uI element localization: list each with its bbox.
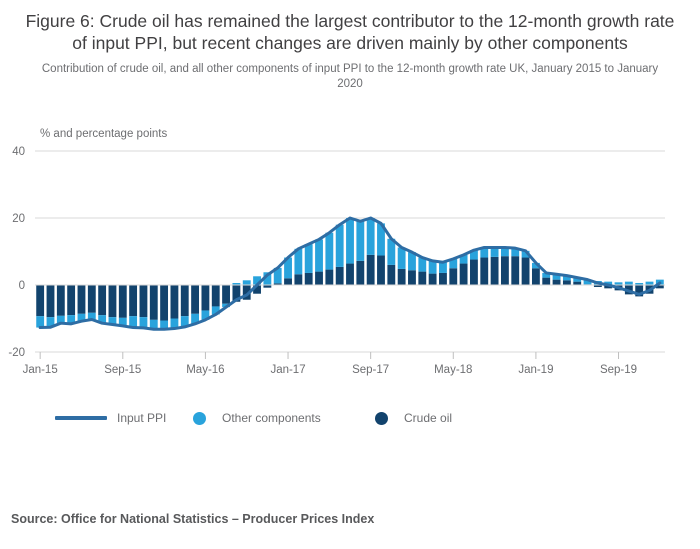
x-axis-tick-label: Jan-15: [23, 364, 58, 376]
stacked-bar-line-chart: -2002040Jan-15Sep-15May-16Jan-17Sep-17Ma…: [0, 128, 700, 388]
bar-group[interactable]: [460, 255, 468, 285]
bar-group[interactable]: [171, 285, 179, 329]
y-axis-tick-label: 20: [12, 213, 25, 225]
bar-group[interactable]: [325, 233, 333, 285]
bar-group[interactable]: [57, 285, 65, 323]
dot-marker-icon: [375, 412, 388, 425]
dot-marker-icon: [193, 412, 206, 425]
bar-group[interactable]: [336, 225, 344, 285]
x-axis-tick-label: Jan-19: [518, 364, 553, 376]
bar-group[interactable]: [88, 285, 96, 320]
bar-group[interactable]: [470, 250, 478, 285]
legend-item-crude-oil[interactable]: Crude oil: [375, 405, 452, 431]
bar-group[interactable]: [315, 239, 323, 285]
x-axis-tick-label: May-16: [186, 364, 224, 376]
legend-label-input-ppi: Input PPI: [117, 411, 166, 425]
bar-group[interactable]: [98, 285, 106, 323]
bar-group[interactable]: [439, 262, 447, 285]
bar-group[interactable]: [67, 285, 75, 324]
bar-group[interactable]: [398, 247, 406, 285]
bar-group[interactable]: [387, 239, 395, 285]
bar-group[interactable]: [181, 285, 189, 327]
legend-item-other-components[interactable]: Other components: [193, 405, 321, 431]
bar-group[interactable]: [212, 285, 220, 314]
bar-group[interactable]: [150, 285, 158, 329]
bar-group[interactable]: [78, 285, 86, 321]
bar-group[interactable]: [191, 285, 199, 324]
bar-group[interactable]: [501, 247, 509, 285]
bar-group[interactable]: [377, 223, 385, 285]
x-axis-tick-label: Sep-19: [600, 364, 637, 376]
bar-group[interactable]: [294, 249, 302, 285]
x-axis-tick-label: May-18: [434, 364, 472, 376]
bar-group[interactable]: [129, 285, 137, 328]
bar-group[interactable]: [140, 285, 148, 328]
x-axis-tick-label: Sep-17: [352, 364, 389, 376]
bar-group[interactable]: [346, 218, 354, 285]
bar-group[interactable]: [119, 285, 127, 326]
bar-group[interactable]: [449, 259, 457, 285]
line-marker-icon: [55, 416, 107, 420]
figure-subtitle: Contribution of crude oil, and all other…: [0, 54, 700, 92]
bar-group[interactable]: [305, 244, 313, 285]
legend-label-crude-oil: Crude oil: [404, 411, 452, 425]
source-note: Source: Office for National Statistics –…: [11, 512, 374, 526]
figure-title: Figure 6: Crude oil has remained the lar…: [0, 0, 700, 54]
legend-item-input-ppi[interactable]: Input PPI: [55, 405, 166, 431]
bar-group[interactable]: [418, 258, 426, 285]
bar-group[interactable]: [160, 285, 168, 329]
bar-group[interactable]: [109, 285, 117, 325]
bar-group[interactable]: [36, 285, 44, 328]
x-axis-tick-label: Jan-17: [270, 364, 305, 376]
y-axis-tick-label: 0: [19, 280, 25, 292]
chart-legend: Input PPI Other components Crude oil: [55, 405, 655, 431]
bar-group[interactable]: [201, 285, 209, 320]
bar-group[interactable]: [367, 218, 375, 285]
bar-group[interactable]: [511, 248, 519, 285]
legend-label-other-components: Other components: [222, 411, 321, 425]
bar-group[interactable]: [480, 247, 488, 285]
bar-group[interactable]: [408, 252, 416, 285]
bar-group[interactable]: [356, 221, 364, 285]
x-axis-tick-label: Sep-15: [104, 364, 141, 376]
bar-group[interactable]: [491, 247, 499, 285]
chart-area: % and percentage points -2002040Jan-15Se…: [0, 128, 700, 388]
bar-group[interactable]: [47, 285, 55, 327]
y-axis-tick-label: -20: [8, 347, 25, 359]
y-axis-tick-label: 40: [12, 146, 25, 158]
bar-group[interactable]: [429, 261, 437, 285]
